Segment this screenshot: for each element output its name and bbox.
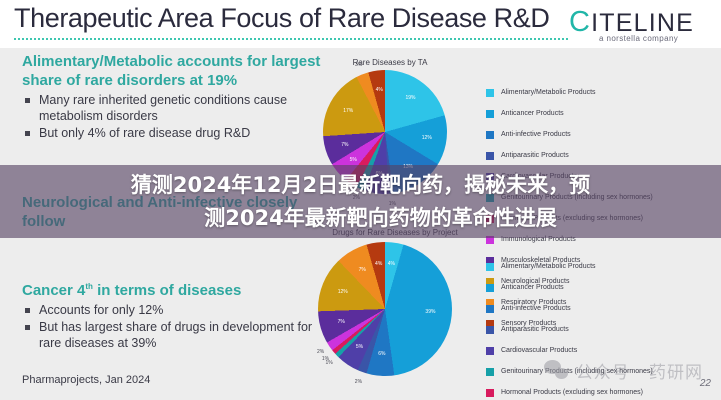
logo-tagline: a norstella company [599,34,678,43]
pie-slice-label: 5% [350,157,357,163]
legend-item: Antiparasitic Products [486,319,653,340]
wechat-bubble-small [555,368,568,379]
pie-slice-label: 7% [338,319,345,325]
legend-swatch-icon [486,263,494,271]
legend-label: Antiparasitic Products [501,326,569,333]
legend-swatch-icon [486,368,494,376]
pie-slice-label: 19% [405,95,415,101]
block3-heading-post: in terms of diseases [93,282,241,299]
pie-slice-label: 6% [378,351,385,357]
pie-slice-label: 12% [422,135,432,141]
legend-item: Antiparasitic Products [486,145,653,166]
overlay-title: 猜测2024年12月2日最新靶向药，揭秘未来，预 测2024年最新靶向药物的革命… [0,165,721,238]
list-item: But only 4% of rare disease drug R&D [22,125,322,141]
page-title: Therapeutic Area Focus of Rare Disease R… [14,2,549,34]
pie-slice-label: 7% [359,267,366,273]
legend-label: Anticancer Products [501,284,564,291]
block3-heading: Cancer 4th in terms of diseases [22,277,322,300]
overlay-line-2: 测2024年最新靶向药物的革命性进展 [204,202,556,235]
legend-label: Anticancer Products [501,110,564,117]
legend-swatch-icon [486,305,494,313]
legend-item: Hormonal Products (excluding sex hormone… [486,382,653,400]
source-footnote: Pharmaprojects, Jan 2024 [22,374,150,386]
legend-label: Anti-infective Products [501,305,571,312]
legend-label: Alimentary/Metabolic Products [501,89,596,96]
wechat-icon [544,360,570,382]
pie-slice-label: 4% [375,261,382,267]
block3-heading-pre: Cancer 4 [22,282,85,299]
legend-label: Alimentary/Metabolic Products [501,263,596,270]
legend-label: Cardiovascular Products [501,347,577,354]
legend-swatch-icon [486,89,494,97]
legend-swatch-icon [486,284,494,292]
legend-swatch-icon [486,152,494,160]
list-item: Many rare inherited genetic conditions c… [22,92,322,124]
title-divider [14,38,570,40]
legend-swatch-icon [486,131,494,139]
legend-item: Anti-infective Products [486,124,653,145]
legend-item: Alimentary/Metabolic Products [486,82,653,103]
legend-item: Anticancer Products [486,103,653,124]
legend-item: Anticancer Products [486,277,653,298]
legend-swatch-icon [486,326,494,334]
block1-bullets: Many rare inherited genetic conditions c… [22,92,322,141]
legend-label: Hormonal Products (excluding sex hormone… [501,389,643,396]
watermark-text: 公众号 · 药研网 [576,358,703,383]
pie-slice-label: 7% [341,142,348,148]
legend-swatch-icon [486,347,494,355]
legend-item: Alimentary/Metabolic Products [486,256,653,277]
citeline-logo: CITELINE a norstella company [569,4,715,44]
pie-slice-label: 2% [355,379,362,385]
block3-bullets: Accounts for only 12% But has largest sh… [22,302,322,351]
overlay-line-1: 猜测2024年12月2日最新靶向药，揭秘未来，预 [131,169,590,202]
block3-heading-sup: th [85,282,93,291]
chart-1-title: Rare Diseases by TA [330,58,450,67]
legend-swatch-icon [486,110,494,118]
pie-slice-label: 3% [355,62,362,68]
pie-slice-label: 2% [317,349,324,355]
legend-item: Anti-infective Products [486,298,653,319]
pie-slice-label: 4% [376,87,383,93]
pie-slice-label: 5% [356,344,363,350]
legend-swatch-icon [486,389,494,397]
logo-c-letter: C [569,6,591,38]
list-item: Accounts for only 12% [22,302,322,318]
slide-header: Therapeutic Area Focus of Rare Disease R… [0,0,721,48]
pie-slice-label: 1% [322,356,329,362]
slide-canvas: Therapeutic Area Focus of Rare Disease R… [0,0,721,400]
pie-slice-label: 17% [343,108,353,114]
pie-slice-label: 39% [425,309,435,315]
pie-slice-label: 4% [388,261,395,267]
legend-label: Antiparasitic Products [501,152,569,159]
legend-label: Anti-infective Products [501,131,571,138]
watermark: 公众号 · 药研网 [544,358,703,383]
pie-slice-label: 12% [338,289,348,295]
block1-heading: Alimentary/Metabolic accounts for larges… [22,52,322,90]
logo-text: ITELINE [591,9,694,37]
list-item: But has largest share of drugs in develo… [22,319,322,351]
